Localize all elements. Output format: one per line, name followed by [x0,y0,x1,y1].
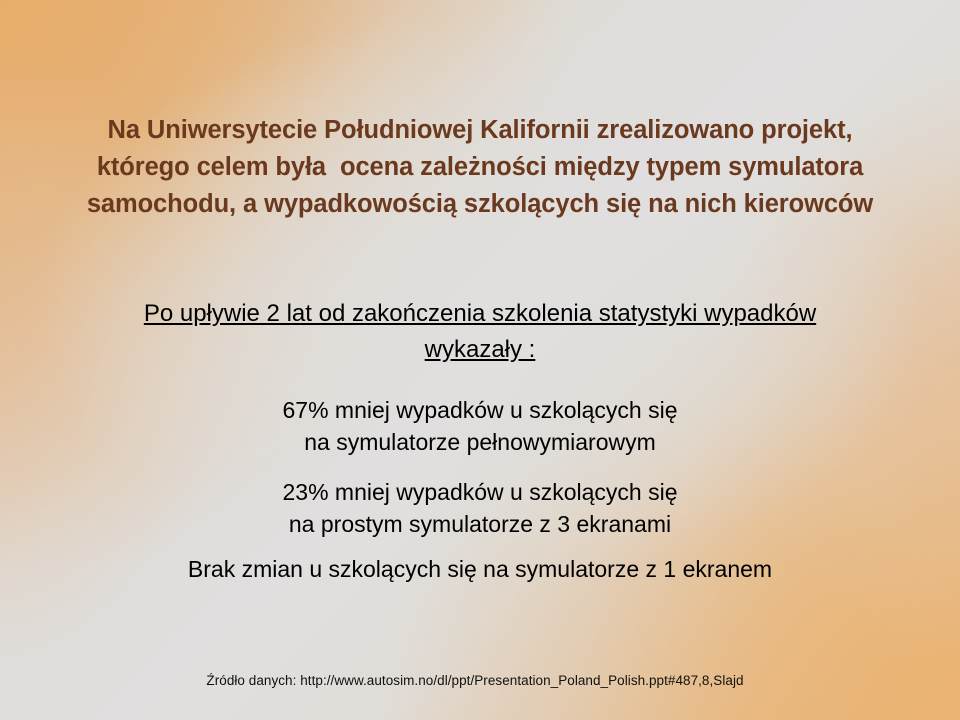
subtitle-line-2: wykazały : [425,336,536,363]
subtitle-heading: Po upływie 2 lat od zakończenia szkoleni… [90,296,870,368]
slide-content: Na Uniwersytecie Południowej Kalifornii … [0,0,960,720]
presentation-slide: Na Uniwersytecie Południowej Kalifornii … [0,0,960,720]
statistic-item-single-screen-simulator: Brak zmian u szkolących się na symulator… [40,553,920,585]
source-citation: Źródło danych: http://www.autosim.no/dl/… [40,672,910,690]
statistic-item-three-screen-simulator: 23% mniej wypadków u szkolących się na p… [40,476,920,540]
statistic-item-full-scale-simulator: 67% mniej wypadków u szkolących się na s… [40,394,920,458]
slide-title: Na Uniwersytecie Południowej Kalifornii … [40,112,920,223]
subtitle-line-1: Po upływie 2 lat od zakończenia szkoleni… [144,300,816,327]
